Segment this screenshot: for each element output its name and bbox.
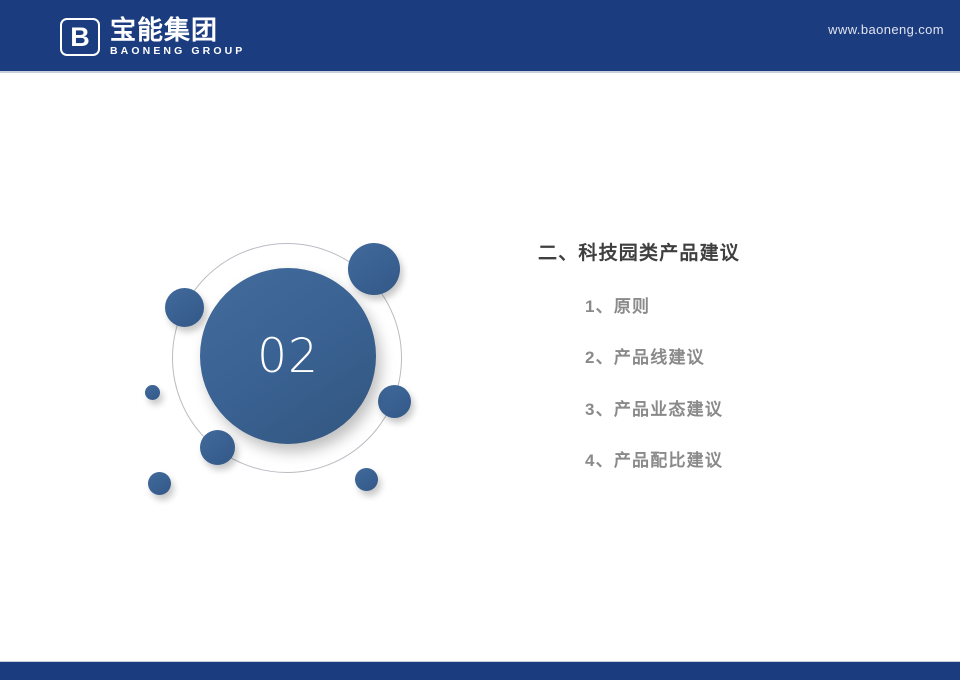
company-logo: B 宝能集团 BAONENG GROUP xyxy=(60,17,245,58)
accent-dot-bottom-left xyxy=(148,472,171,495)
agenda-block: 二、科技园类产品建议 1、原则 2、产品线建议 3、产品业态建议 4、产品配比建… xyxy=(538,243,908,471)
accent-circle-top-right xyxy=(348,243,400,295)
logo-mark-icon: B xyxy=(60,18,100,56)
agenda-item-2: 2、产品线建议 xyxy=(585,348,908,368)
agenda-item-1: 1、原则 xyxy=(585,297,908,317)
accent-circle-right xyxy=(378,385,411,418)
section-number-circle: 02 xyxy=(200,268,376,444)
section-number-graphic: 02 xyxy=(120,225,430,515)
footer-bar xyxy=(0,662,960,680)
logo-wordmark: 宝能集团 BAONENG GROUP xyxy=(110,17,245,58)
logo-name-chinese: 宝能集团 xyxy=(110,17,245,44)
accent-circle-bottom-left xyxy=(200,430,235,465)
logo-mark-letter: B xyxy=(70,24,90,51)
agenda-item-3: 3、产品业态建议 xyxy=(585,400,908,420)
accent-dot-small-left xyxy=(145,385,160,400)
section-number-label: 02 xyxy=(257,333,319,380)
header-divider xyxy=(0,71,960,73)
accent-dot-bottom-right xyxy=(355,468,378,491)
presentation-slide: B 宝能集团 BAONENG GROUP www.baoneng.com 02 … xyxy=(0,0,960,680)
website-url: www.baoneng.com xyxy=(828,22,944,37)
agenda-item-4: 4、产品配比建议 xyxy=(585,451,908,471)
logo-name-english: BAONENG GROUP xyxy=(110,45,245,58)
accent-circle-left xyxy=(165,288,204,327)
section-title: 二、科技园类产品建议 xyxy=(538,243,908,266)
agenda-list: 1、原则 2、产品线建议 3、产品业态建议 4、产品配比建议 xyxy=(538,297,908,472)
